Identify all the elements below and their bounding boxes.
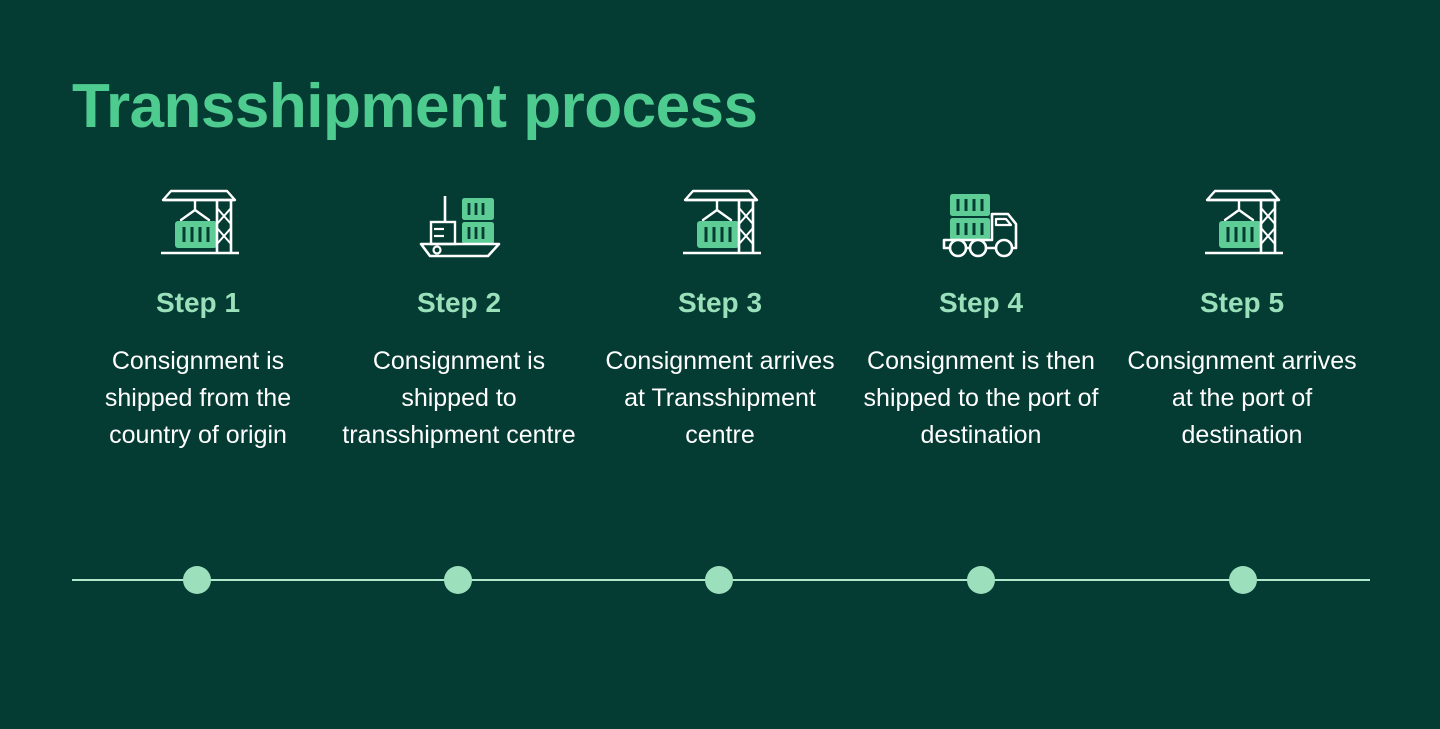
- timeline: [0, 556, 1440, 606]
- step-item-1: Step 1 Consignment is shipped from the c…: [68, 186, 328, 454]
- step-description: Consignment is shipped from the country …: [72, 343, 324, 454]
- gantry-crane-container-icon: [665, 186, 775, 262]
- timeline-dot-3[interactable]: [705, 566, 733, 594]
- step-item-4: Step 4 Consignment is then shipped to th…: [851, 186, 1111, 454]
- step-label: Step 1: [156, 288, 240, 319]
- page-title: Transshipment process: [72, 76, 758, 138]
- gantry-crane-container-icon: [1187, 186, 1297, 262]
- step-description: Consignment is shipped to transshipment …: [333, 343, 585, 454]
- gantry-crane-container-icon: [143, 186, 253, 262]
- timeline-dot-1[interactable]: [183, 566, 211, 594]
- timeline-dot-4[interactable]: [967, 566, 995, 594]
- step-item-3: Step 3 Consignment arrives at Transshipm…: [590, 186, 850, 454]
- step-label: Step 4: [939, 288, 1023, 319]
- step-description: Consignment arrives at Transshipment cen…: [594, 343, 846, 454]
- step-label: Step 2: [417, 288, 501, 319]
- cargo-ship-containers-icon: [404, 186, 514, 262]
- infographic-canvas: Transshipment process: [0, 0, 1440, 729]
- step-label: Step 3: [678, 288, 762, 319]
- timeline-dot-5[interactable]: [1229, 566, 1257, 594]
- container-truck-icon: [926, 186, 1036, 262]
- step-label: Step 5: [1200, 288, 1284, 319]
- step-item-5: Step 5 Consignment arrives at the port o…: [1112, 186, 1372, 454]
- step-description: Consignment is then shipped to the port …: [855, 343, 1107, 454]
- steps-row: Step 1 Consignment is shipped from the c…: [68, 186, 1372, 454]
- step-item-2: Step 2 Consignment is shipped to transsh…: [329, 186, 589, 454]
- timeline-dot-2[interactable]: [444, 566, 472, 594]
- step-description: Consignment arrives at the port of desti…: [1116, 343, 1368, 454]
